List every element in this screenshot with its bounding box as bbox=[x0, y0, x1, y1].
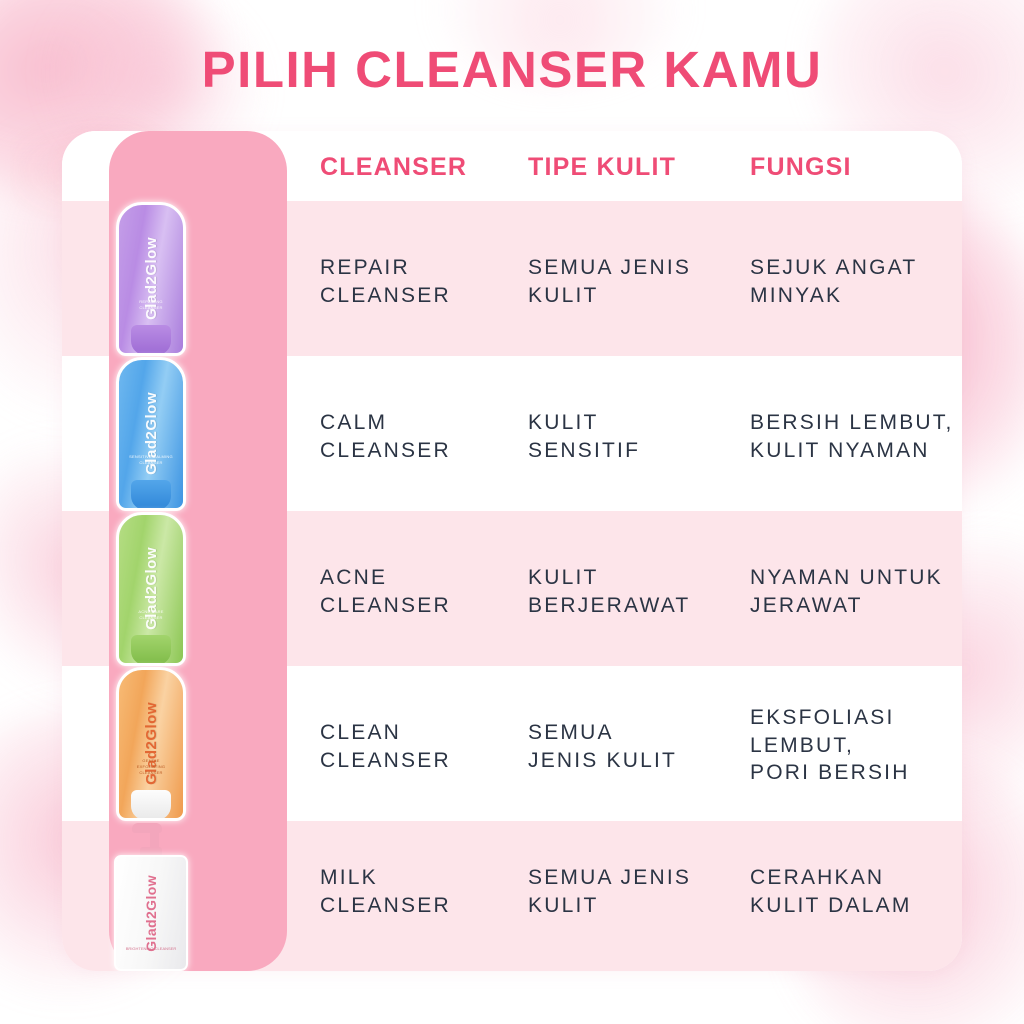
blue-cleanser-tube-icon: Glad2Glow SENSITIVE CALMING CLEANSER bbox=[116, 357, 186, 511]
cell-fungsi: NYAMAN UNTUK JERAWAT bbox=[750, 564, 960, 619]
cell-fungsi: CERAHKAN KULIT DALAM bbox=[750, 864, 960, 919]
tube-cap bbox=[131, 480, 171, 510]
product-brand-label: Glad2Glow bbox=[143, 875, 159, 952]
cell-cleanser: CALM CLEANSER bbox=[320, 409, 520, 464]
product-sub-label: SENSITIVE CALMING CLEANSER bbox=[129, 454, 173, 466]
cell-tipe-kulit: KULIT SENSITIF bbox=[528, 409, 738, 464]
product-image-purple-cleanser-tube: Glad2Glow REPAIRING CLEANSER bbox=[62, 201, 240, 356]
cell-tipe-kulit: SEMUA JENIS KULIT bbox=[528, 864, 738, 919]
column-header-fungsi: FUNGSI bbox=[750, 153, 960, 182]
comparison-table-card: Glad2Glow REPAIRING CLEANSER Glad2Glow S… bbox=[62, 131, 962, 971]
tube-cap bbox=[131, 635, 171, 665]
tube-cap bbox=[131, 790, 171, 820]
product-sub-label: GENTLE EXFOLIATING CLEANSER bbox=[129, 758, 173, 776]
bottle-body: Glad2Glow BRIGHTENING CLEANSER bbox=[114, 855, 188, 971]
cell-fungsi: BERSIH LEMBUT, KULIT NYAMAN bbox=[750, 409, 960, 464]
orange-cleanser-tube-icon: Glad2Glow GENTLE EXFOLIATING CLEANSER bbox=[116, 667, 186, 821]
product-image-green-cleanser-tube: Glad2Glow ACNE CARE CLEANSER bbox=[62, 511, 240, 666]
cell-fungsi: EKSFOLIASI LEMBUT, PORI BERSIH bbox=[750, 704, 960, 787]
purple-cleanser-tube-icon: Glad2Glow REPAIRING CLEANSER bbox=[116, 202, 186, 356]
cell-cleanser: CLEAN CLEANSER bbox=[320, 719, 520, 774]
column-header-cleanser: CLEANSER bbox=[320, 153, 520, 182]
tube-cap bbox=[131, 325, 171, 355]
cell-cleanser: REPAIR CLEANSER bbox=[320, 254, 520, 309]
page-title: PILIH CLEANSER KAMU bbox=[0, 40, 1024, 99]
product-sub-label: REPAIRING CLEANSER bbox=[129, 299, 173, 311]
cell-cleanser: ACNE CLEANSER bbox=[320, 564, 520, 619]
cell-tipe-kulit: KULIT BERJERAWAT bbox=[528, 564, 738, 619]
cell-tipe-kulit: SEMUA JENIS KULIT bbox=[528, 719, 738, 774]
cell-tipe-kulit: SEMUA JENIS KULIT bbox=[528, 254, 738, 309]
product-image-orange-cleanser-tube: Glad2Glow GENTLE EXFOLIATING CLEANSER bbox=[62, 666, 240, 821]
cell-cleanser: MILK CLEANSER bbox=[320, 864, 520, 919]
cell-fungsi: SEJUK ANGAT MINYAK bbox=[750, 254, 960, 309]
white-pump-bottle-icon: Glad2Glow BRIGHTENING CLEANSER bbox=[114, 821, 188, 971]
product-sub-label: BRIGHTENING CLEANSER bbox=[125, 946, 177, 953]
product-sub-label: ACNE CARE CLEANSER bbox=[129, 609, 173, 621]
product-image-blue-cleanser-tube: Glad2Glow SENSITIVE CALMING CLEANSER bbox=[62, 356, 240, 511]
column-header-tipe-kulit: TIPE KULIT bbox=[528, 153, 738, 182]
product-image-white-pump-bottle: Glad2Glow BRIGHTENING CLEANSER bbox=[62, 821, 240, 971]
green-cleanser-tube-icon: Glad2Glow ACNE CARE CLEANSER bbox=[116, 512, 186, 666]
